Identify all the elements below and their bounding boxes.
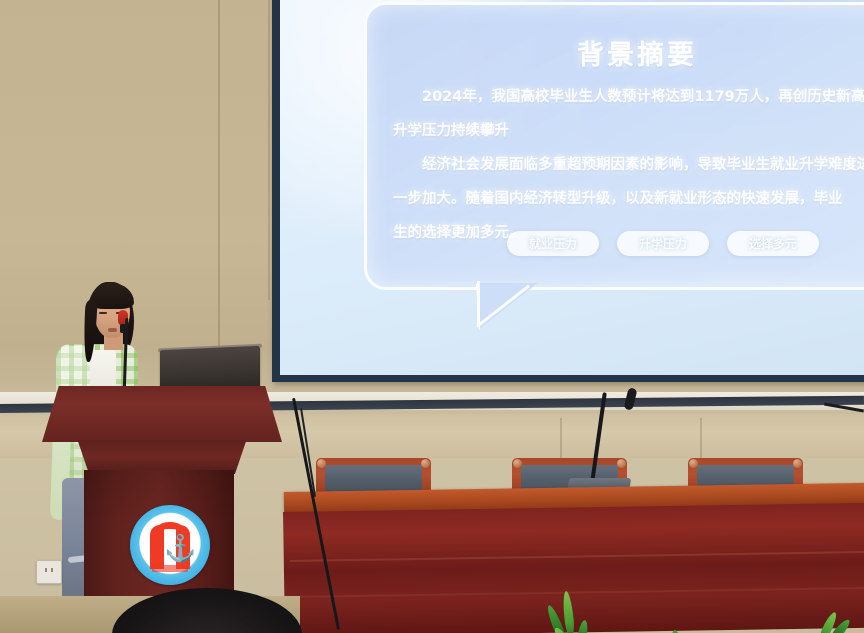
slide-line: 2024年，我国高校毕业生人数预计将达到1179万人，再创历史新高，	[393, 83, 864, 111]
wall-power-outlet	[36, 560, 62, 584]
slide-line: 一步加大。随着国内经济转型升级，以及新就业形态的快速发展，毕业	[393, 185, 864, 213]
slide-tag-pill: 就业压力	[507, 231, 599, 256]
anchor-icon: ⚓	[164, 533, 176, 563]
slide-line: 升学压力持续攀升	[393, 117, 864, 145]
conference-table-front	[283, 503, 864, 633]
wall-panel-seam	[268, 0, 270, 300]
chair-knob	[617, 459, 626, 468]
podium-midsection	[66, 440, 258, 474]
slide-speech-bubble-card: 背景摘要 2024年，我国高校毕业生人数预计将达到1179万人，再创历史新高， …	[364, 2, 864, 290]
slide-tag-pill: 升学压力	[617, 231, 709, 256]
chair-knob	[421, 459, 430, 468]
chair-knob	[689, 459, 698, 468]
chair-knob	[793, 459, 802, 468]
slide-tag-row: 就业压力 升学压力 选择多元	[507, 231, 819, 256]
presenter-mouth	[108, 328, 117, 332]
chair-knob	[317, 459, 326, 468]
slide-line: 经济社会发展面临多重超预期因素的影响，导致毕业生就业升学难度进	[393, 151, 864, 179]
presenter-eye	[99, 312, 107, 314]
podium-top	[42, 386, 282, 442]
slide-title: 背景摘要	[367, 33, 864, 72]
slide-body-text: 2024年，我国高校毕业生人数预计将达到1179万人，再创历史新高， 升学压力持…	[393, 83, 864, 253]
presenter-laptop	[160, 346, 260, 393]
presentation-photo-scene: 背景摘要 2024年，我国高校毕业生人数预计将达到1179万人，再创历史新高， …	[0, 0, 864, 633]
projection-screen: 背景摘要 2024年，我国高校毕业生人数预计将达到1179万人，再创历史新高， …	[280, 0, 864, 375]
chair-knob	[513, 459, 522, 468]
podium-school-emblem: ⚓	[130, 505, 210, 585]
emblem-ribbon	[152, 565, 188, 572]
slide-tag-pill: 选择多元	[727, 231, 819, 256]
emblem-arch-left	[150, 525, 164, 569]
speech-bubble-tail-outline	[475, 281, 537, 329]
